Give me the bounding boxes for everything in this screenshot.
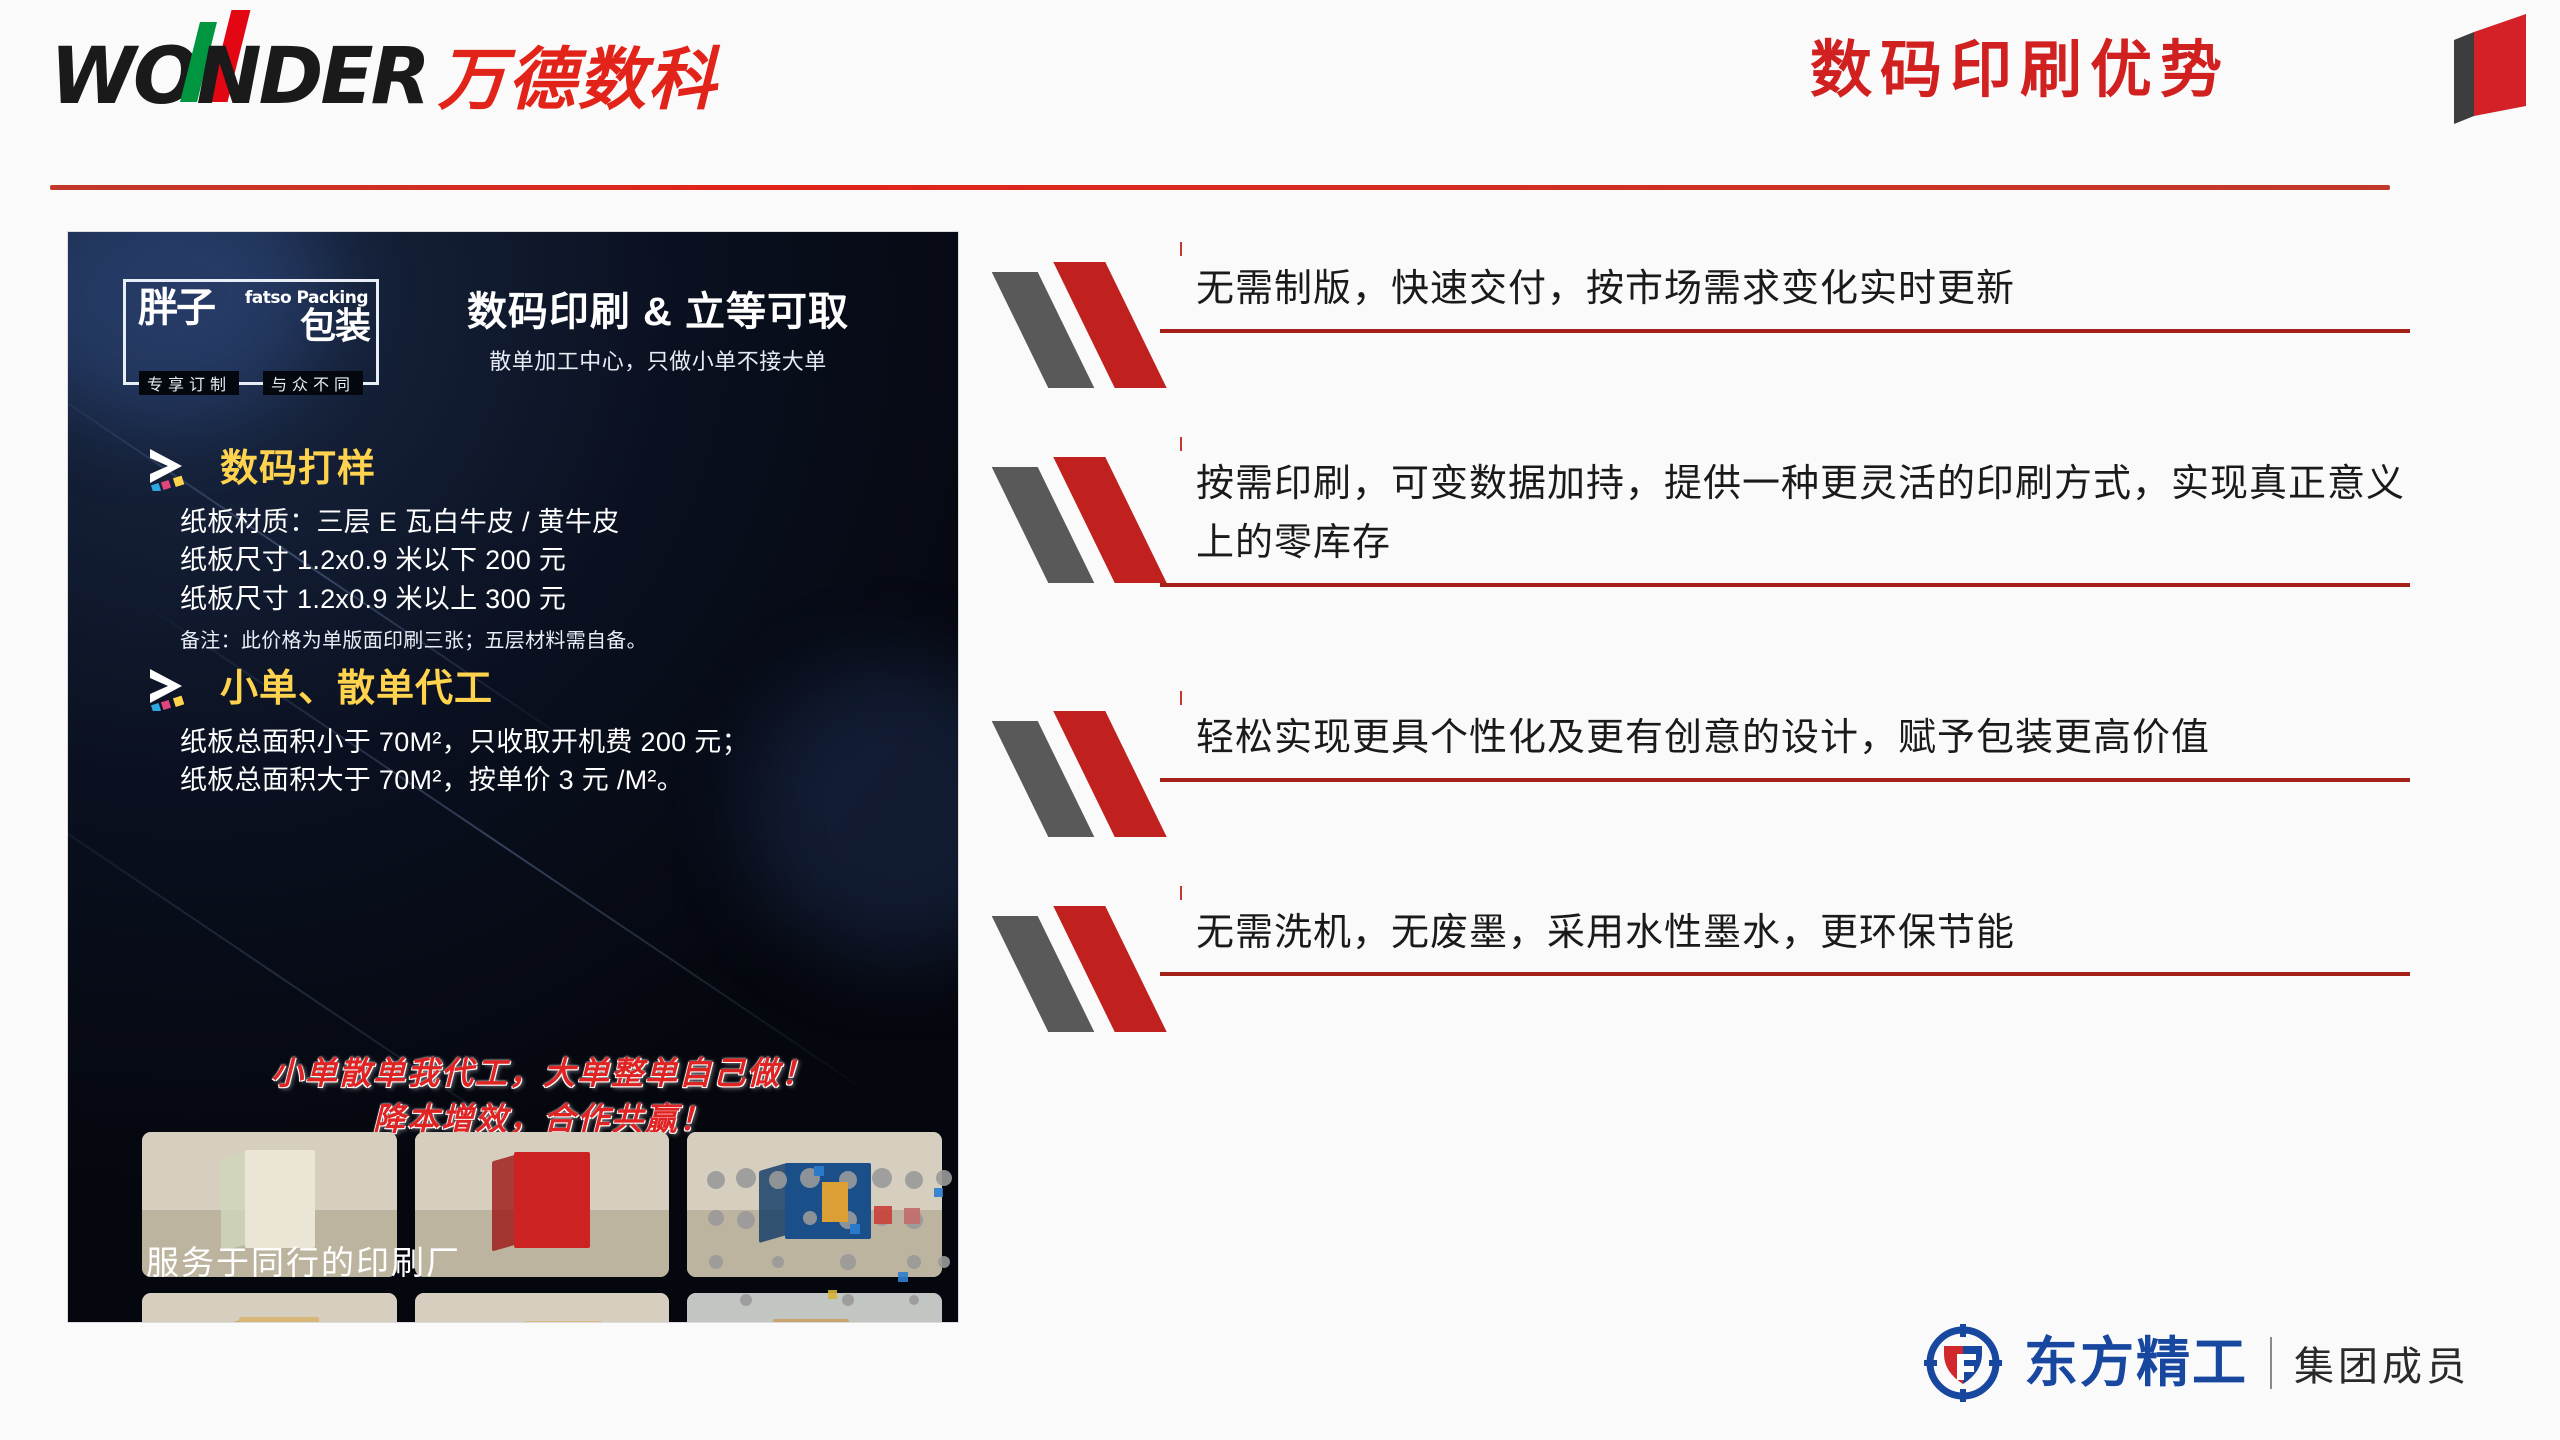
poster-tagline-right: 与众不同 — [263, 371, 363, 395]
poster-section-1-title: 数码打样 — [220, 450, 376, 488]
page-title: 数码印刷优势 — [1810, 40, 2230, 102]
poster-brand-cn2: 包装 — [300, 308, 370, 344]
poster-section-2-lines: 纸板总面积小于 70M²，只收取开机费 200 元； 纸板总面积大于 70M²，… — [180, 723, 938, 800]
poster-section-small-order-oem: 小单、散单代工 纸板总面积小于 70M²，只收取开机费 200 元； 纸板总面积… — [148, 667, 938, 800]
chevron-right-icon — [148, 447, 206, 491]
promo-poster-image: 胖子 fatso Packing 包装 专享订制 与众不同 数码印刷 & 立等可… — [68, 232, 958, 1322]
footer-company-name: 东方精工 — [2024, 1336, 2248, 1390]
advantages-list: 无需制版，快速交付，按市场需求变化实时更新 按需印刷，可变数据加持，提供一种更灵… — [1010, 260, 2410, 1098]
poster-section-1-line-3: 纸板尺寸 1.2x0.9 米以上 300 元 — [180, 580, 938, 618]
product-photo-kraft-plain-carton — [142, 1293, 397, 1322]
tick-mark — [1180, 886, 1182, 900]
poster-tagline-left: 专享订制 — [139, 371, 239, 395]
advantage-text-1: 无需制版，快速交付，按市场需求变化实时更新 — [1196, 260, 2410, 333]
poster-section-digital-proofing: 数码打样 纸板材质：三层 E 瓦白牛皮 / 黄牛皮 纸板尺寸 1.2x0.9 米… — [148, 447, 938, 653]
poster-slogan-line-1: 小单散单我代工，大单整单自己做！ — [148, 1050, 938, 1096]
advantage-item-3: 轻松实现更具个性化及更有创意的设计，赋予包装更高价值 — [1010, 709, 2410, 782]
poster-brand-taglines: 专享订制 与众不同 — [126, 371, 376, 395]
chevron-right-icon — [148, 667, 206, 711]
poster-headline: 数码印刷 & 立等可取 — [398, 288, 918, 336]
poster-section-1-title-row: 数码打样 — [148, 447, 938, 491]
page-footer: 东方精工 集团成员 — [1924, 1324, 2470, 1402]
advantage-underline-2 — [1160, 583, 2410, 587]
advantage-item-4: 无需洗机，无废墨，采用水性墨水，更环保节能 — [1010, 904, 2410, 977]
bullet-marker-bars — [1010, 904, 1178, 1032]
page-header: WONDER 万德数科 数码印刷优势 — [0, 0, 2560, 190]
poster-slogan: 小单散单我代工，大单整单自己做！ 降本增效，合作共赢！ — [148, 1050, 938, 1143]
advantage-underline-3 — [1160, 778, 2410, 782]
logo-wordmark: WONDER — [50, 38, 428, 116]
header-divider — [50, 185, 2390, 190]
poster-section-1-line-1: 纸板材质：三层 E 瓦白牛皮 / 黄牛皮 — [180, 503, 938, 541]
poster-subheadline: 散单加工中心，只做小单不接大单 — [398, 344, 918, 376]
poster-section-2-title-row: 小单、散单代工 — [148, 667, 938, 711]
folded-book-icon — [2440, 10, 2540, 128]
halftone-dot-pattern — [698, 1162, 958, 1322]
poster-headline-block: 数码印刷 & 立等可取 散单加工中心，只做小单不接大单 — [398, 288, 918, 376]
poster-section-1-line-2: 纸板尺寸 1.2x0.9 米以下 200 元 — [180, 541, 938, 579]
poster-section-2-line-1: 纸板总面积小于 70M²，只收取开机费 200 元； — [180, 723, 938, 761]
advantage-text-3: 轻松实现更具个性化及更有创意的设计，赋予包装更高价值 — [1196, 709, 2410, 782]
logo-n-accent: N — [196, 38, 258, 116]
poster-brand-cn: 胖子 — [138, 288, 214, 328]
product-photo-kraft-classic-boxes — [415, 1293, 670, 1322]
advantage-underline-4 — [1160, 972, 2410, 976]
poster-footer-caption: 服务于同行的印刷厂 — [146, 1236, 461, 1284]
bullet-marker-bars — [1010, 709, 1178, 837]
bullet-marker-bars — [1010, 260, 1178, 388]
bullet-marker-bars — [1010, 455, 1178, 583]
advantage-item-2: 按需印刷，可变数据加持，提供一种更灵活的印刷方式，实现真正意义上的零库存 — [1010, 455, 2410, 587]
tick-mark — [1180, 242, 1182, 256]
tick-mark — [1180, 437, 1182, 451]
poster-section-2-title: 小单、散单代工 — [220, 670, 493, 708]
poster-section-1-lines: 纸板材质：三层 E 瓦白牛皮 / 黄牛皮 纸板尺寸 1.2x0.9 米以下 20… — [180, 503, 938, 618]
logo-chinese-name: 万德数科 — [438, 46, 718, 114]
footer-member-label: 集团成员 — [2294, 1334, 2470, 1392]
advantage-underline-1 — [1160, 329, 2410, 333]
wonder-logo: WONDER 万德数科 — [50, 38, 718, 116]
advantage-item-1: 无需制版，快速交付，按市场需求变化实时更新 — [1010, 260, 2410, 333]
poster-section-1-note: 备注：此价格为单版面印刷三张；五层材料需自备。 — [180, 624, 938, 653]
poster-section-2-line-2: 纸板总面积大于 70M²，按单价 3 元 /M²。 — [180, 761, 938, 799]
tick-mark — [1180, 691, 1182, 705]
advantage-text-2: 按需印刷，可变数据加持，提供一种更灵活的印刷方式，实现真正意义上的零库存 — [1196, 455, 2410, 587]
footer-divider — [2270, 1337, 2272, 1389]
dongfang-jinggong-logo-icon — [1924, 1324, 2002, 1402]
logo-word-n: N — [196, 32, 258, 122]
advantage-text-4: 无需洗机，无废墨，采用水性墨水，更环保节能 — [1196, 904, 2410, 977]
logo-word-part2: DER — [259, 32, 428, 122]
poster-brand-box: 胖子 fatso Packing 包装 专享订制 与众不同 — [123, 279, 379, 385]
logo-word-part1: WO — [50, 32, 196, 122]
